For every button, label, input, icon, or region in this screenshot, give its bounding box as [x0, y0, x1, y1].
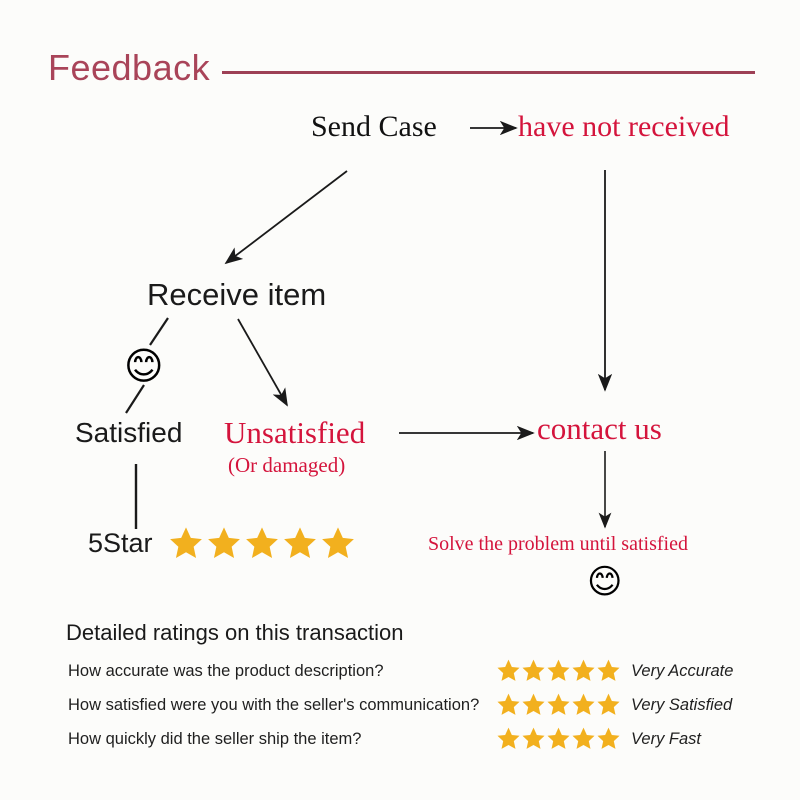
star-icon	[496, 658, 521, 683]
star-icon	[320, 525, 356, 561]
connector-receiveitem-to-emoji	[150, 318, 168, 345]
node-have-not-received: have not received	[518, 110, 730, 144]
arrow-receiveitem-to-unsatisfied	[238, 319, 287, 405]
rating-star-group	[496, 692, 621, 717]
node-receive-item: Receive item	[147, 277, 326, 313]
detailed-ratings-heading: Detailed ratings on this transaction	[66, 620, 766, 646]
node-or-damaged: (Or damaged)	[228, 453, 345, 478]
rating-value: Very Satisfied	[631, 696, 732, 715]
star-icon	[521, 692, 546, 717]
star-icon	[521, 726, 546, 751]
detailed-ratings-list: How accurate was the product description…	[66, 658, 766, 756]
node-satisfied: Satisfied	[75, 417, 182, 449]
rating-value: Very Accurate	[631, 662, 733, 681]
page-title: Feedback	[48, 47, 210, 89]
smiling-face-icon: 😊	[587, 565, 622, 599]
star-icon	[596, 726, 621, 751]
header-divider	[222, 71, 755, 74]
node-send-case: Send Case	[311, 110, 437, 144]
smiling-face-icon: 😊	[124, 347, 164, 385]
star-icon	[206, 525, 242, 561]
star-icon	[496, 692, 521, 717]
star-icon	[546, 658, 571, 683]
star-icon	[571, 726, 596, 751]
flow-star-rating	[168, 525, 356, 561]
node-contact-us: contact us	[537, 411, 662, 447]
star-icon	[282, 525, 318, 561]
star-icon	[496, 726, 521, 751]
feedback-infographic: Feedback Send Case have not received Rec…	[0, 0, 800, 800]
rating-row: How quickly did the seller ship the item…	[66, 726, 766, 756]
arrow-sendcase-to-receiveitem	[226, 171, 347, 263]
star-icon	[546, 726, 571, 751]
rating-row: How satisfied were you with the seller's…	[66, 692, 766, 722]
star-icon	[244, 525, 280, 561]
star-icon	[546, 692, 571, 717]
star-icon	[596, 658, 621, 683]
rating-star-group	[496, 658, 621, 683]
rating-question: How accurate was the product description…	[68, 662, 384, 681]
star-icon	[168, 525, 204, 561]
node-unsatisfied: Unsatisfied	[224, 415, 365, 451]
rating-row: How accurate was the product description…	[66, 658, 766, 688]
rating-question: How satisfied were you with the seller's…	[68, 696, 479, 715]
star-icon	[571, 692, 596, 717]
node-five-star-label: 5Star	[88, 528, 153, 559]
node-solve-problem: Solve the problem until satisfied	[428, 533, 688, 556]
detailed-ratings-section: Detailed ratings on this transaction How…	[66, 620, 766, 760]
star-icon	[571, 658, 596, 683]
rating-question: How quickly did the seller ship the item…	[68, 730, 361, 749]
rating-value: Very Fast	[631, 730, 701, 749]
star-icon	[596, 692, 621, 717]
rating-star-group	[496, 726, 621, 751]
star-icon	[521, 658, 546, 683]
connector-emoji-to-satisfied	[126, 385, 144, 413]
